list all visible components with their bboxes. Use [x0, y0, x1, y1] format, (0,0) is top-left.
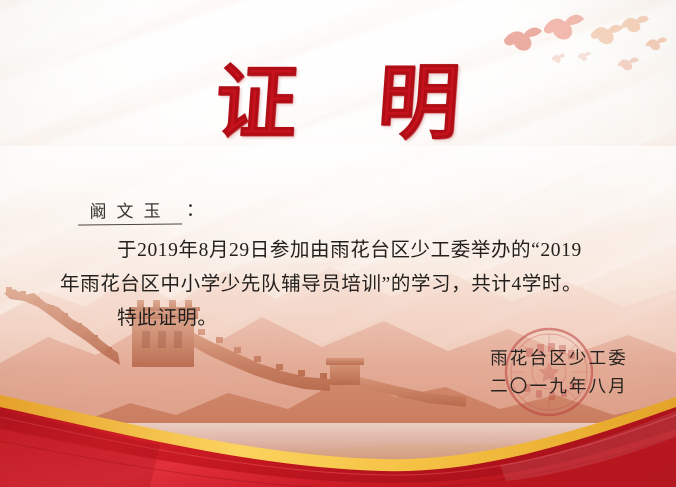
salutation-colon: ：: [186, 196, 204, 225]
body-line-2: 年雨花台区中小学少先队辅导员培训”的学习，共计4学时。: [60, 268, 630, 302]
body-line-1: 于2019年8月29日参加由雨花台区少工委举办的“2019: [60, 234, 630, 268]
red-gold-ribbon-wave: [0, 367, 676, 487]
salutation-row: 阚文玉 ：: [78, 196, 204, 225]
certificate-body: 于2019年8月29日参加由雨花台区少工委举办的“2019 年雨花台区中小学少先…: [60, 234, 630, 336]
certificate-title: 证 明: [0, 46, 676, 144]
ribbon-svg: [0, 367, 676, 487]
certificate-page: 证 明 阚文玉 ： 于2019年8月29日参加由雨花台区少工委举办的“2019 …: [0, 0, 676, 487]
recipient-name-field[interactable]: 阚文玉: [78, 196, 182, 225]
